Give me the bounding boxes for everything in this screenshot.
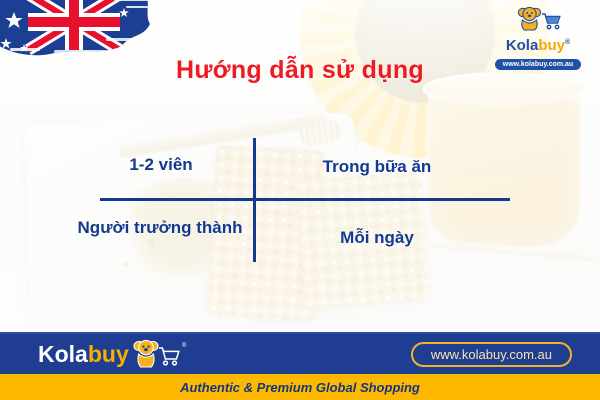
brand-url-pill-top[interactable]: www.kolabuy.com.au (495, 59, 581, 70)
brand-logo-top[interactable]: Kolabuy® www.kolabuy.com.au (486, 6, 590, 71)
registered-mark: ® (565, 39, 570, 46)
koala-mascot-icon-footer: ® (131, 339, 187, 369)
footer-url-pill[interactable]: www.kolabuy.com.au (411, 342, 572, 367)
brand-wordmark-top: Kolabuy® (486, 38, 590, 53)
product-usage-poster: Hướng dẫn sử dụng Kolabuy® www.kolabuy (0, 0, 600, 400)
dosage-audience-label: Người trưởng thành (70, 218, 250, 238)
divider-horizontal (100, 198, 510, 201)
dosage-frequency-label: Mỗi ngày (272, 228, 482, 248)
tagline-strip: Authentic & Premium Global Shopping (0, 374, 600, 400)
dosage-timing-label: Trong bữa ăn (272, 157, 482, 177)
footer-kola-text: Kola (38, 341, 88, 367)
footer-buy-text: buy (88, 341, 129, 367)
brand-logo-footer[interactable]: Kolabuy ® (38, 339, 187, 369)
divider-vertical (253, 138, 256, 262)
brand-kola-text: Kola (506, 37, 539, 54)
tagline-text: Authentic & Premium Global Shopping (180, 380, 420, 395)
dosage-amount-label: 1-2 viên (86, 155, 236, 175)
brand-wordmark-footer: Kolabuy (38, 343, 129, 366)
brand-buy-text: buy (538, 37, 565, 54)
footer-bar: Kolabuy ® www.ko (0, 334, 600, 374)
registered-mark-footer: ® (182, 342, 187, 349)
shopping-cart-icon-footer (159, 348, 179, 365)
koala-mascot-icon (511, 6, 565, 32)
